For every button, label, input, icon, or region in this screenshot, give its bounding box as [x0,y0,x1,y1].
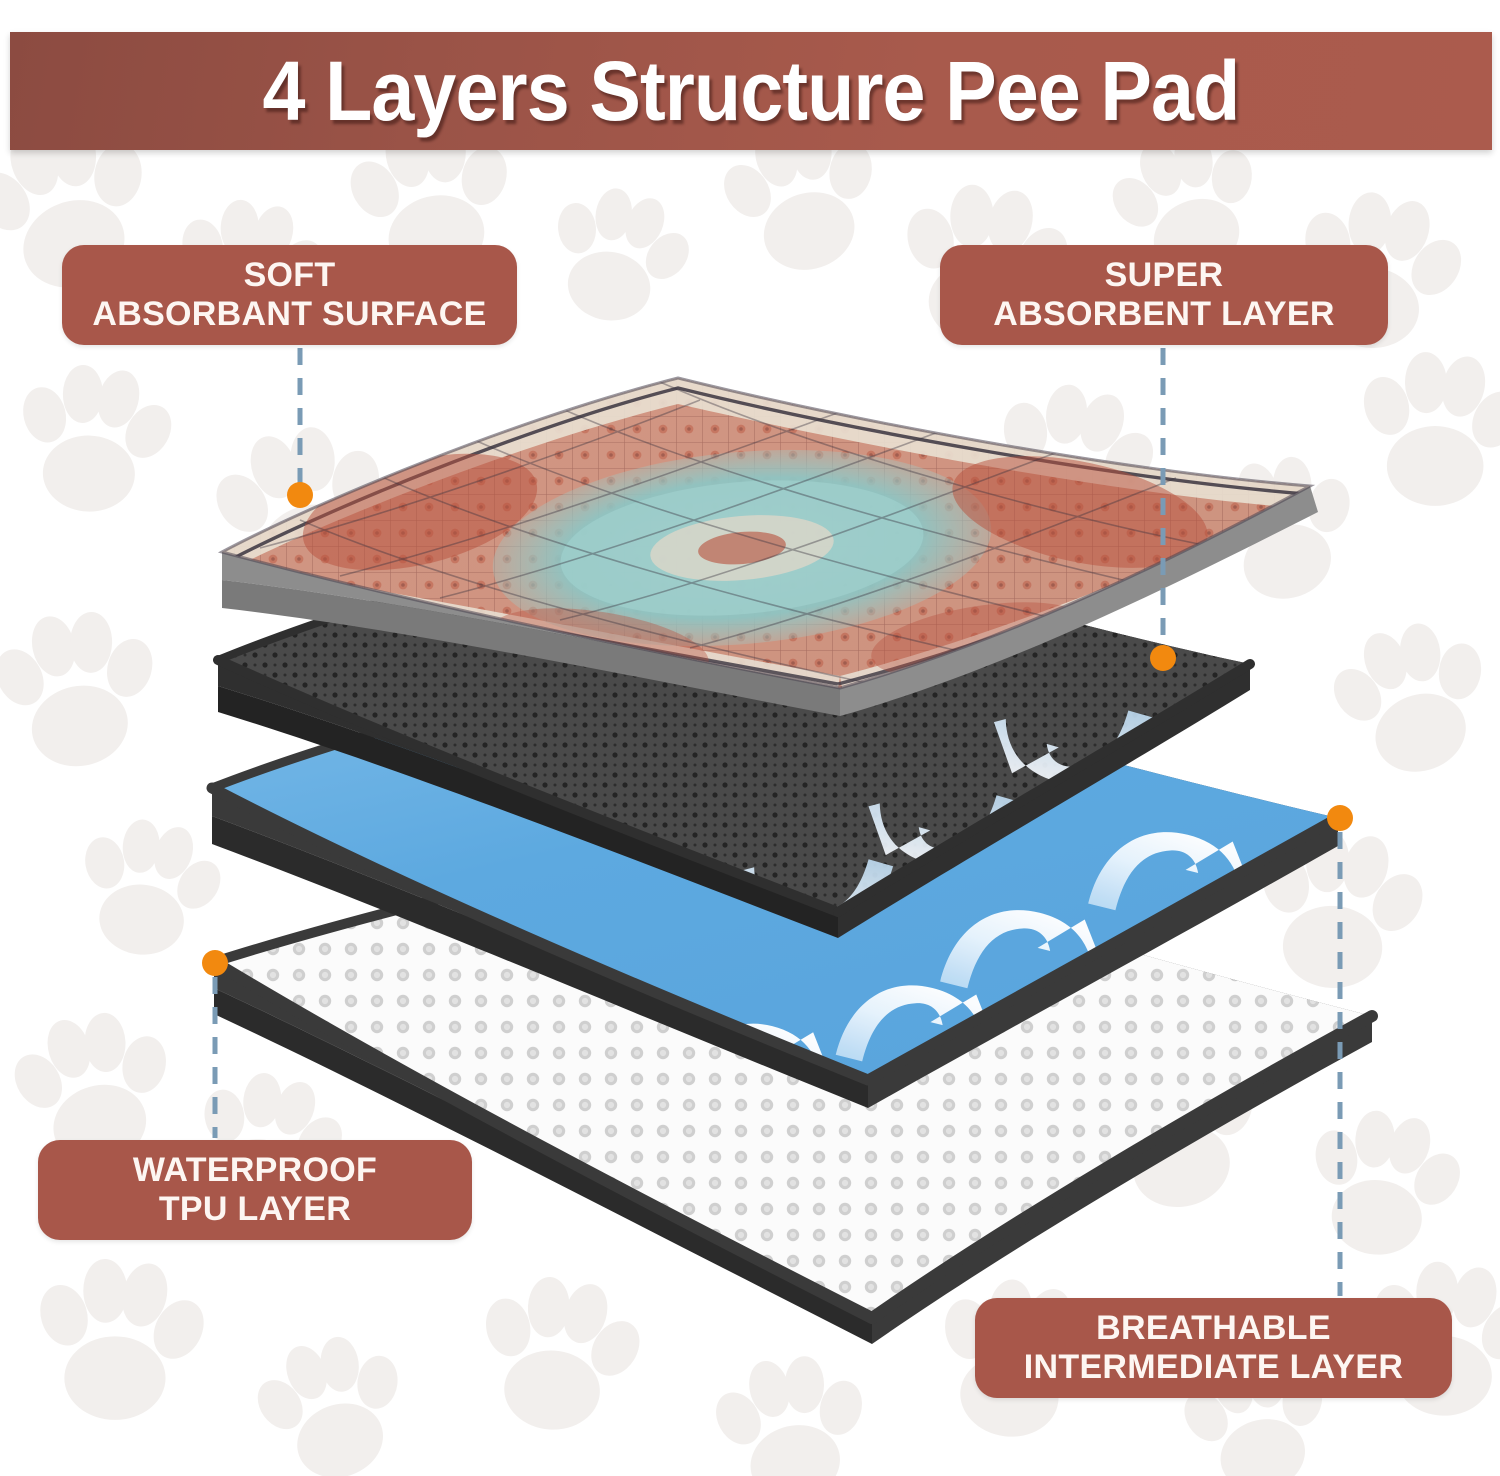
infographic-canvas: 4 Layers Structure Pee Pad SOFT ABSORBAN… [0,0,1500,1476]
header-banner: 4 Layers Structure Pee Pad [10,32,1492,150]
callout-soft-absorbant-surface[interactable]: SOFT ABSORBANT SURFACE [62,245,517,345]
page-title: 4 Layers Structure Pee Pad [263,49,1240,133]
callout-line-2: INTERMEDIATE LAYER [1001,1348,1426,1387]
callout-line-2: ABSORBENT LAYER [966,295,1362,334]
callout-line-2: ABSORBANT SURFACE [88,295,491,334]
callout-breathable-intermediate-layer[interactable]: BREATHABLE INTERMEDIATE LAYER [975,1298,1452,1398]
exploded-layer-diagram [0,0,1500,1476]
callout-super-absorbent-layer[interactable]: SUPER ABSORBENT LAYER [940,245,1388,345]
callout-line-2: TPU LAYER [64,1190,446,1229]
callout-line-1: SUPER [966,256,1362,295]
callout-waterproof-tpu-layer[interactable]: WATERPROOF TPU LAYER [38,1140,472,1240]
callout-line-1: WATERPROOF [64,1151,446,1190]
callout-line-1: BREATHABLE [1001,1309,1426,1348]
callout-line-1: SOFT [88,256,491,295]
